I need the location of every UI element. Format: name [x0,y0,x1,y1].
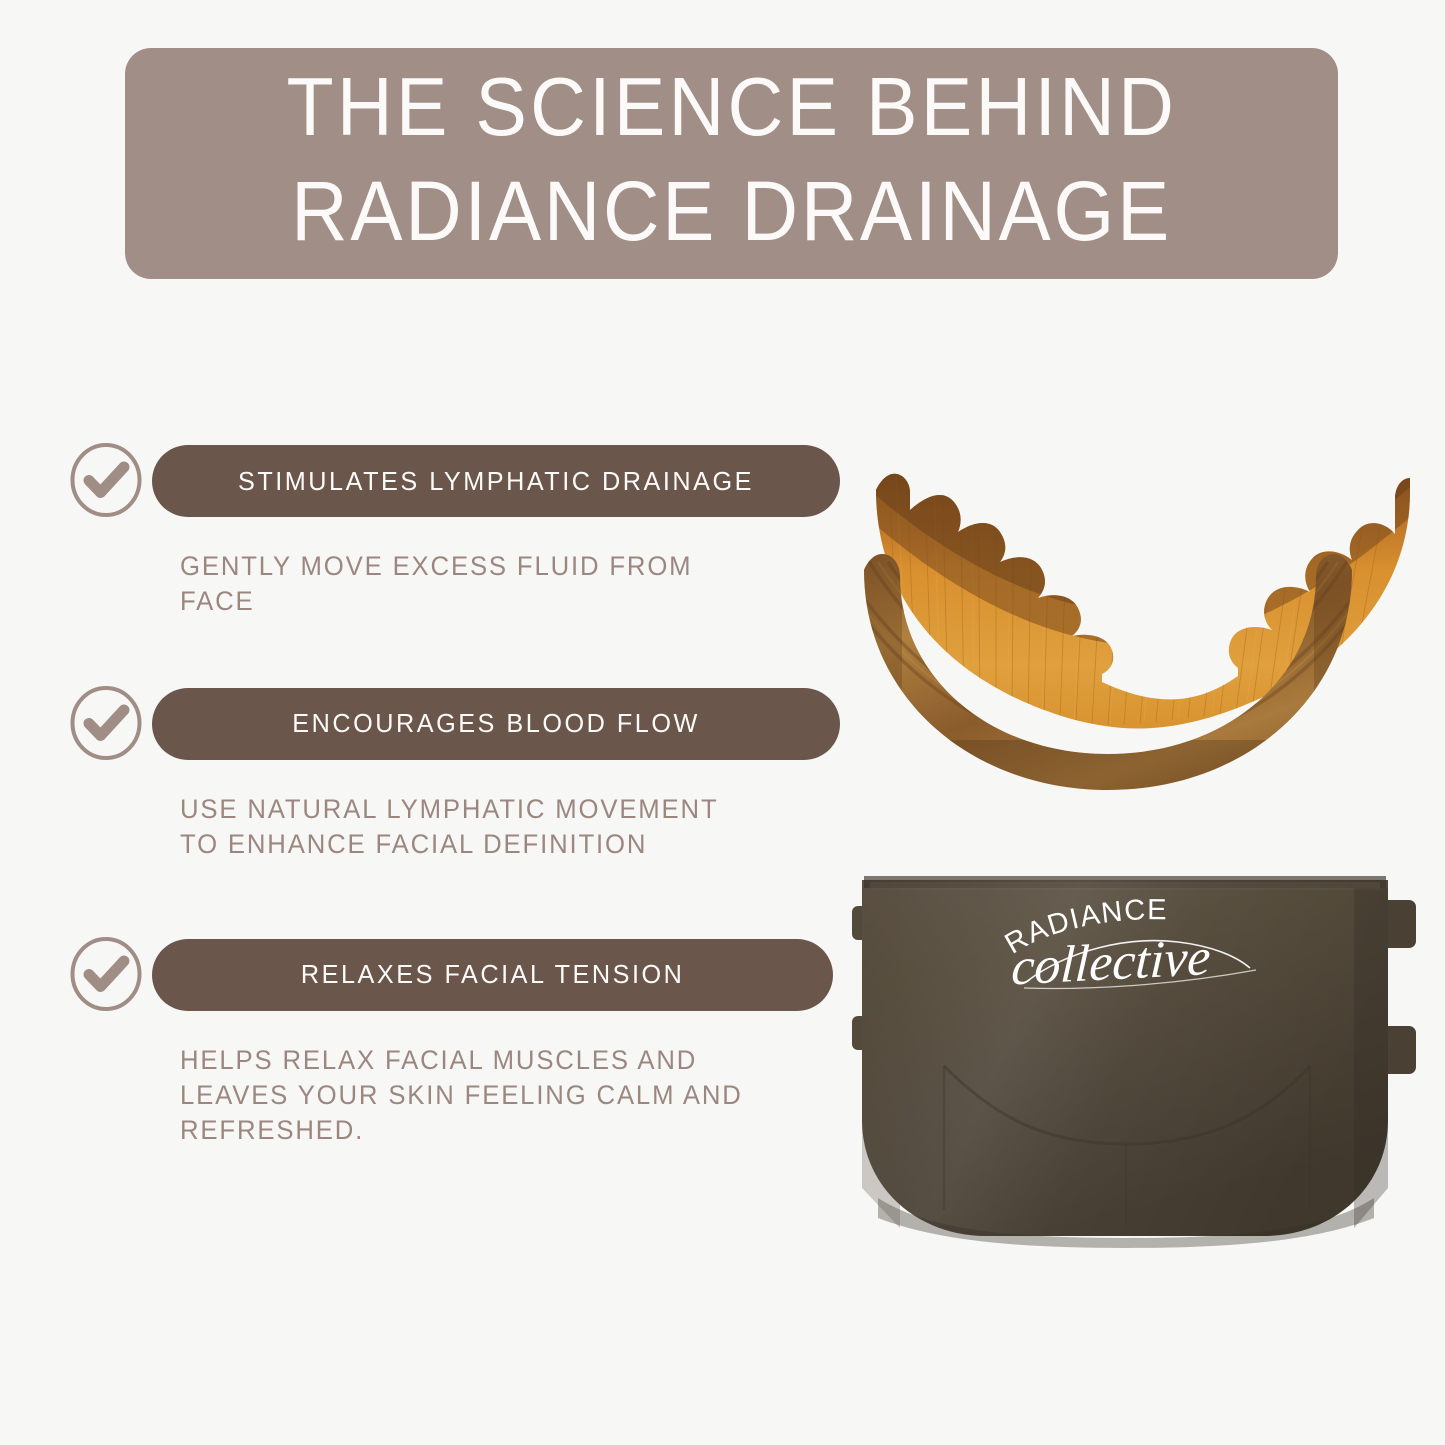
feature-description: HELPS RELAX FACIAL MUSCLES AND LEAVES YO… [180,1043,762,1148]
feature-title: STIMULATES LYMPHATIC DRAINAGE [238,466,754,497]
check-circle-icon [68,684,144,762]
feature-pill: ENCOURAGES BLOOD FLOW [152,688,840,760]
feature-title: ENCOURAGES BLOOD FLOW [292,708,700,739]
product-brush-image [858,450,1418,835]
feature-title: RELAXES FACIAL TENSION [301,959,684,990]
product-case-image: RADIANCE collective [848,858,1423,1258]
infographic-page: THE SCIENCE BEHIND RADIANCE DRAINAGE STI… [0,0,1445,1445]
feature-header: ENCOURAGES BLOOD FLOW [0,683,860,761]
feature-list: STIMULATES LYMPHATIC DRAINAGE GENTLY MOV… [0,440,860,1148]
header-title-line-2: RADIANCE DRAINAGE [291,159,1172,263]
feature-pill: STIMULATES LYMPHATIC DRAINAGE [152,445,840,517]
feature-description: GENTLY MOVE EXCESS FLUID FROM FACE [180,549,762,619]
feature-header: STIMULATES LYMPHATIC DRAINAGE [0,440,860,518]
feature-item: STIMULATES LYMPHATIC DRAINAGE GENTLY MOV… [0,440,860,619]
brand-logo: RADIANCE collective [998,896,1288,1001]
feature-description: USE NATURAL LYMPHATIC MOVEMENT TO ENHANC… [180,792,762,862]
feature-item: RELAXES FACIAL TENSION HELPS RELAX FACIA… [0,934,860,1148]
header-banner: THE SCIENCE BEHIND RADIANCE DRAINAGE [125,48,1338,279]
check-circle-icon [68,935,144,1013]
check-circle-icon [68,441,144,519]
feature-item: ENCOURAGES BLOOD FLOW USE NATURAL LYMPHA… [0,683,860,862]
feature-pill: RELAXES FACIAL TENSION [152,939,833,1011]
header-title-line-1: THE SCIENCE BEHIND [286,56,1177,159]
feature-header: RELAXES FACIAL TENSION [0,934,860,1012]
